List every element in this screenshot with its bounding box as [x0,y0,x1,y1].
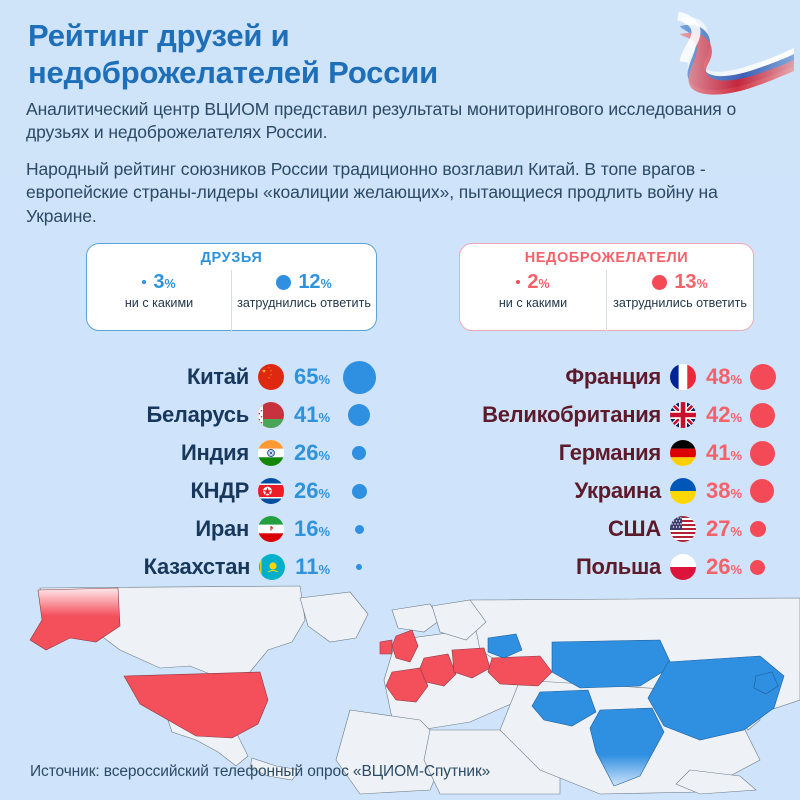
intro-paragraph-2: Народный рейтинг союзников России традиц… [26,158,776,228]
ranking-row: Великобритания 42% [400,396,800,434]
legend-card-friends: ДРУЗЬЯ 3% ни с какими 12% затруднились о… [86,243,377,331]
country-percent: 48% [706,364,742,390]
de-flag-icon [670,440,696,466]
ranking-row: Китай 65% [0,358,400,396]
pl-flag-icon [670,554,696,580]
country-percent: 16% [294,516,330,542]
value-bubble-icon [750,364,776,390]
large-bubble-icon [652,275,667,290]
cn-flag-icon [258,364,284,390]
gb-flag-icon [670,402,696,428]
ranking-row: Беларусь 41% [0,396,400,434]
ranking-row: Украина 38% [400,472,800,510]
ranking-row: США 27% [400,510,800,548]
bubble-cell [330,446,388,460]
country-name: Германия [559,440,661,466]
bubble-cell [742,364,790,390]
intro-paragraph-1: Аналитический центр ВЦИОМ представил рез… [26,98,766,145]
legend-foes-hard: 13% затруднились ответить [606,270,753,332]
legend-friends-none: 3% ни с какими [87,270,231,332]
legend-foes-hard-value: 13% [674,271,707,294]
page-title: Рейтинг друзей и недоброжелателей России [28,18,648,91]
country-percent: 26% [294,440,330,466]
legend-friends-none-value: 3% [153,271,175,294]
value-bubble-icon [356,564,362,570]
country-name: КНДР [190,478,248,504]
legend-foes-none: 2% ни с какими [460,270,606,332]
legend-friends-hard: 12% затруднились ответить [231,270,376,332]
ranking-row: Франция 48% [400,358,800,396]
legend-friends-title: ДРУЗЬЯ [87,250,376,266]
country-name: Китай [187,364,249,390]
value-bubble-icon [355,525,364,534]
small-bubble-icon [516,280,520,284]
title-line-1: Рейтинг друзей и [28,18,290,53]
source-note: Источник: всероссийский телефонный опрос… [30,763,490,781]
country-percent: 65% [294,364,330,390]
value-bubble-icon [348,404,370,426]
country-percent: 11% [295,554,330,580]
value-bubble-icon [750,479,774,503]
country-percent: 41% [706,440,742,466]
ranking-list-foes: Франция 48%Великобритания 42%Германия 41… [400,358,800,586]
country-name: Великобритания [482,402,661,428]
fr-flag-icon [670,364,696,390]
ranking-row: Германия 41% [400,434,800,472]
legend-friends-hard-value: 12% [298,271,331,294]
bubble-cell [742,403,790,428]
country-percent: 26% [294,478,330,504]
by-flag-icon [258,402,284,428]
bubble-cell [330,361,388,394]
value-bubble-icon [343,361,376,394]
ir-flag-icon [258,516,284,542]
legend-foes-hard-label: затруднились ответить [607,296,753,311]
legend-foes-none-label: ни с какими [460,296,606,311]
value-bubble-icon [750,560,765,575]
value-bubble-icon [750,441,775,466]
country-percent: 42% [706,402,742,428]
country-percent: 27% [706,516,742,542]
legend-foes-none-value: 2% [527,271,549,294]
bubble-cell [330,484,388,499]
bubble-cell [742,479,790,503]
russian-flag-ribbon-icon [644,8,794,100]
title-line-2: недоброжелателей России [28,55,648,92]
ua-flag-icon [670,478,696,504]
country-name: Иран [195,516,249,542]
bubble-cell [742,521,790,537]
in-flag-icon [258,440,284,466]
bubble-cell [330,564,388,570]
us-flag-icon [670,516,696,542]
country-name: Украина [574,478,660,504]
country-percent: 41% [294,402,330,428]
country-name: Франция [565,364,661,390]
country-name: Казахстан [144,554,251,580]
legend-card-foes: НЕДОБРОЖЕЛАТЕЛИ 2% ни с какими 13% затру… [459,243,754,331]
ranking-row: Иран 16% [0,510,400,548]
country-percent: 26% [706,554,742,580]
legend-friends-none-label: ни с какими [87,296,231,311]
ranking-list-friends: Китай 65%Беларусь 41%Индия 26%КНДР 26%Ир… [0,358,400,586]
country-name: Беларусь [146,402,248,428]
bubble-cell [330,404,388,426]
bubble-cell [742,560,790,575]
infographic-page: Рейтинг друзей и недоброжелателей России… [0,0,800,800]
kp-flag-icon [258,478,284,504]
value-bubble-icon [750,403,775,428]
kz-flag-icon [259,554,285,580]
country-name: США [608,516,661,542]
value-bubble-icon [352,446,366,460]
legend-foes-title: НЕДОБРОЖЕЛАТЕЛИ [460,250,753,266]
small-bubble-icon [142,280,146,284]
legend-friends-hard-label: затруднились ответить [232,296,376,311]
country-percent: 38% [706,478,742,504]
value-bubble-icon [352,484,367,499]
ranking-row: КНДР 26% [0,472,400,510]
country-name: Индия [181,440,249,466]
ranking-row: Индия 26% [0,434,400,472]
bubble-cell [330,525,388,534]
country-name: Польша [576,554,661,580]
large-bubble-icon [276,275,291,290]
value-bubble-icon [750,521,766,537]
bubble-cell [742,441,790,466]
